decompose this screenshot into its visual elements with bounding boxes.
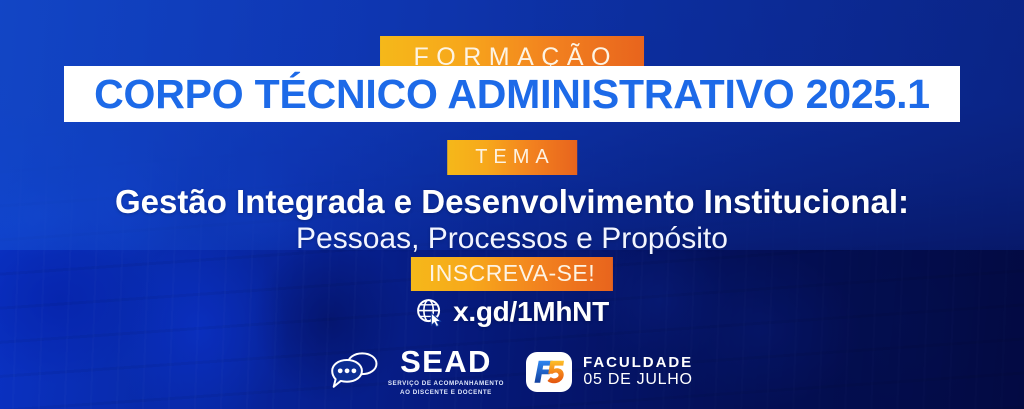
logo-row: SEAD SERVIÇO DE ACOMPANHAMENTO AO DISCEN… xyxy=(0,343,1024,401)
f5-logo: FACULDADE 05 DE JULHO xyxy=(526,352,693,392)
f5-line-05-de-julho: 05 DE JULHO xyxy=(583,371,693,389)
badge-inscreva-se[interactable]: INSCREVA-SE! xyxy=(411,257,613,291)
sead-subtitle-line2: AO DISCENTE E DOCENTE xyxy=(400,389,492,398)
f5-wordmark: FACULDADE 05 DE JULHO xyxy=(583,355,693,390)
badge-tema: TEMA xyxy=(447,140,577,175)
event-banner: FORMAÇÃO CORPO TÉCNICO ADMINISTRATIVO 20… xyxy=(0,0,1024,409)
theme-title-line1: Gestão Integrada e Desenvolvimento Insti… xyxy=(0,183,1024,221)
signup-url[interactable]: x.gd/1MhNT xyxy=(453,298,609,326)
sead-wordmark: SEAD SERVIÇO DE ACOMPANHAMENTO AO DISCEN… xyxy=(388,346,504,398)
title-bar: CORPO TÉCNICO ADMINISTRATIVO 2025.1 xyxy=(64,66,960,122)
sead-subtitle-line1: SERVIÇO DE ACOMPANHAMENTO xyxy=(388,380,504,389)
sead-name: SEAD xyxy=(400,346,492,377)
page-title: CORPO TÉCNICO ADMINISTRATIVO 2025.1 xyxy=(94,74,930,115)
banner-content: FORMAÇÃO CORPO TÉCNICO ADMINISTRATIVO 20… xyxy=(0,0,1024,409)
f5-line-faculdade: FACULDADE xyxy=(583,355,693,372)
globe-cursor-icon xyxy=(415,297,445,327)
f5-mark-icon xyxy=(526,352,572,392)
sead-logo: SEAD SERVIÇO DE ACOMPANHAMENTO AO DISCEN… xyxy=(331,346,504,398)
signup-url-row[interactable]: x.gd/1MhNT xyxy=(0,297,1024,327)
theme-title-line2: Pessoas, Processos e Propósito xyxy=(0,222,1024,257)
speech-bubbles-icon xyxy=(331,350,381,395)
